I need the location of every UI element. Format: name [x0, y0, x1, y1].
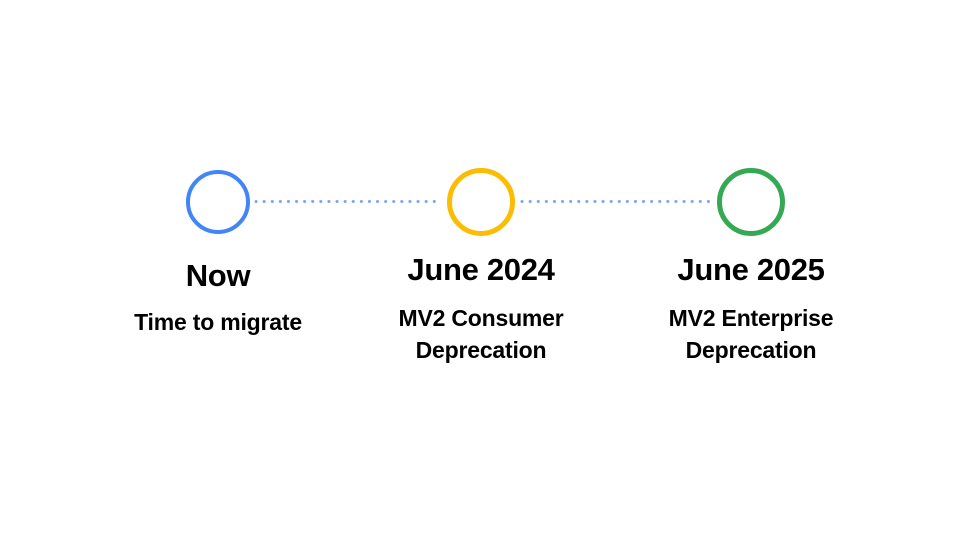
- milestone-title: June 2024: [331, 252, 631, 288]
- timeline-diagram: Now Time to migrate June 2024 MV2 Consum…: [0, 0, 960, 540]
- milestone-node-wrap: [68, 166, 368, 238]
- milestone-node-wrap: [331, 166, 631, 238]
- milestone-title: June 2025: [601, 252, 901, 288]
- milestone-description: MV2 Enterprise Deprecation: [636, 302, 866, 366]
- circle-outline-icon: [186, 170, 250, 234]
- timeline-milestone-june-2025: June 2025 MV2 Enterprise Deprecation: [601, 166, 901, 366]
- timeline-milestone-june-2024: June 2024 MV2 Consumer Deprecation: [331, 166, 631, 366]
- timeline-milestone-now: Now Time to migrate: [68, 166, 368, 338]
- circle-outline-icon: [717, 168, 785, 236]
- milestone-description: MV2 Consumer Deprecation: [366, 302, 596, 366]
- milestone-description: Time to migrate: [68, 306, 368, 338]
- circle-outline-icon: [447, 168, 515, 236]
- milestone-title: Now: [68, 258, 368, 294]
- milestone-node-wrap: [601, 166, 901, 238]
